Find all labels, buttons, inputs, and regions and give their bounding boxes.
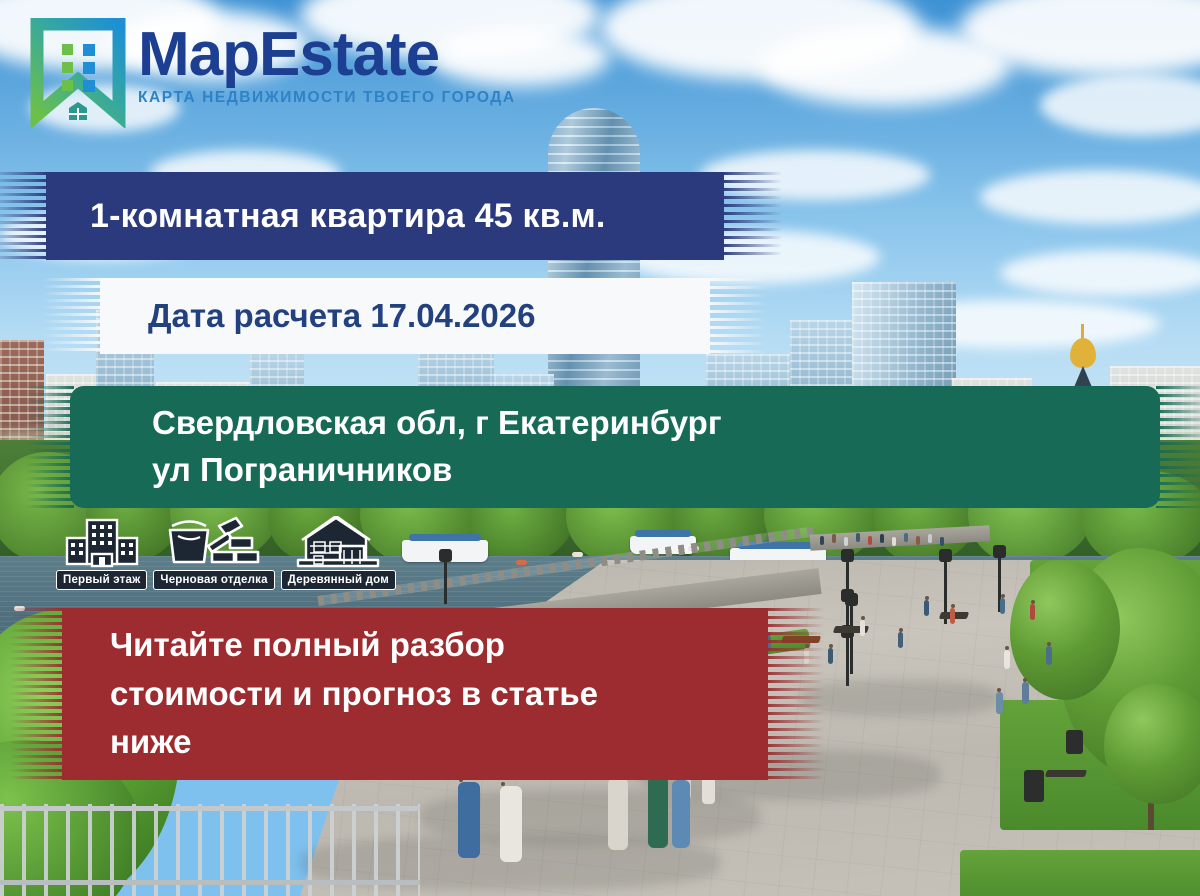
- shadow: [800, 680, 1000, 716]
- pedestrian: [924, 600, 929, 616]
- pedestrian: [648, 776, 668, 848]
- brand-logo[interactable]: MapEstate КАРТА НЕДВИЖИМОСТИ ТВОЕГО ГОРО…: [30, 18, 516, 128]
- cta-line-2: стоимости и прогноз в статье: [62, 670, 768, 719]
- pedestrian: [804, 648, 809, 664]
- pedestrian: [1000, 598, 1005, 614]
- pedestrian: [1004, 650, 1010, 669]
- poster: MapEstate КАРТА НЕДВИЖИМОСТИ ТВОЕГО ГОРО…: [0, 0, 1200, 896]
- brand-title: MapEstate: [138, 26, 516, 85]
- pedestrian: [898, 632, 903, 648]
- park-tree: [1104, 684, 1200, 804]
- pedestrian: [950, 608, 955, 624]
- park-tree: [1010, 560, 1120, 700]
- fence-rail: [0, 806, 420, 811]
- pedestrian: [996, 692, 1003, 714]
- crowd: [844, 537, 848, 546]
- trash-bin: [1066, 730, 1083, 754]
- calculation-date-text: Дата расчета 17.04.2026: [100, 297, 710, 335]
- badge-label: Первый этаж: [56, 570, 147, 590]
- bookmark-building-icon: [30, 18, 126, 128]
- bench: [1045, 770, 1087, 777]
- pedestrian: [828, 648, 833, 664]
- crowd: [832, 534, 836, 543]
- bench: [781, 636, 821, 643]
- feature-badges: Первый этаж Черновая отделк: [56, 516, 396, 590]
- small-boat: [516, 560, 527, 565]
- street-lamp: [846, 600, 849, 686]
- street-lamp: [444, 560, 447, 604]
- property-text: 1-комнатная квартира 45 кв.м.: [46, 197, 724, 236]
- wooden-house-icon: [296, 516, 380, 568]
- address-line-1: Свердловская обл, г Екатеринбург: [70, 400, 1160, 447]
- street-lamp: [850, 604, 853, 674]
- crowd: [868, 536, 872, 545]
- small-boat: [14, 606, 25, 611]
- crowd: [880, 534, 884, 543]
- cta-banner: Читайте полный разбор стоимости и прогно…: [62, 608, 768, 780]
- pedestrian: [608, 778, 628, 850]
- badge-wooden-house: Деревянный дом: [281, 516, 396, 590]
- badge-label: Черновая отделка: [153, 570, 274, 590]
- property-banner: 1-комнатная квартира 45 кв.м.: [46, 172, 724, 260]
- crowd: [928, 534, 932, 543]
- paint-bucket-trowel-icon: [164, 516, 264, 568]
- brand-text: MapEstate КАРТА НЕДВИЖИМОСТИ ТВОЕГО ГОРО…: [138, 18, 516, 107]
- pedestrian: [860, 620, 865, 636]
- crowd: [904, 533, 908, 542]
- cloud: [700, 150, 930, 200]
- address-banner: Свердловская обл, г Екатеринбург ул Погр…: [70, 386, 1160, 508]
- apartment-building-icon: [65, 516, 139, 568]
- trash-bin: [1024, 770, 1044, 802]
- crowd: [940, 537, 944, 546]
- crowd: [820, 536, 824, 545]
- pedestrian: [500, 786, 522, 862]
- pedestrian: [672, 780, 690, 848]
- calculation-date-banner: Дата расчета 17.04.2026: [100, 278, 710, 354]
- fence-rail: [0, 880, 420, 885]
- cta-line-1: Читайте полный разбор: [62, 621, 768, 670]
- badge-first-floor: Первый этаж: [56, 516, 147, 590]
- pedestrian: [1022, 682, 1029, 704]
- crowd: [892, 537, 896, 546]
- badge-label: Деревянный дом: [281, 570, 396, 590]
- crowd: [856, 533, 860, 542]
- pedestrian: [458, 782, 480, 858]
- pedestrian: [1030, 604, 1035, 620]
- badge-rough-finish: Черновая отделка: [153, 516, 274, 590]
- pedestrian: [1046, 646, 1052, 665]
- small-boat: [572, 552, 583, 557]
- lawn: [960, 850, 1200, 896]
- crowd: [916, 536, 920, 545]
- address-line-2: ул Пограничников: [70, 447, 1160, 494]
- brand-tagline: КАРТА НЕДВИЖИМОСТИ ТВОЕГО ГОРОДА: [138, 89, 516, 107]
- cta-line-3: ниже: [62, 718, 768, 767]
